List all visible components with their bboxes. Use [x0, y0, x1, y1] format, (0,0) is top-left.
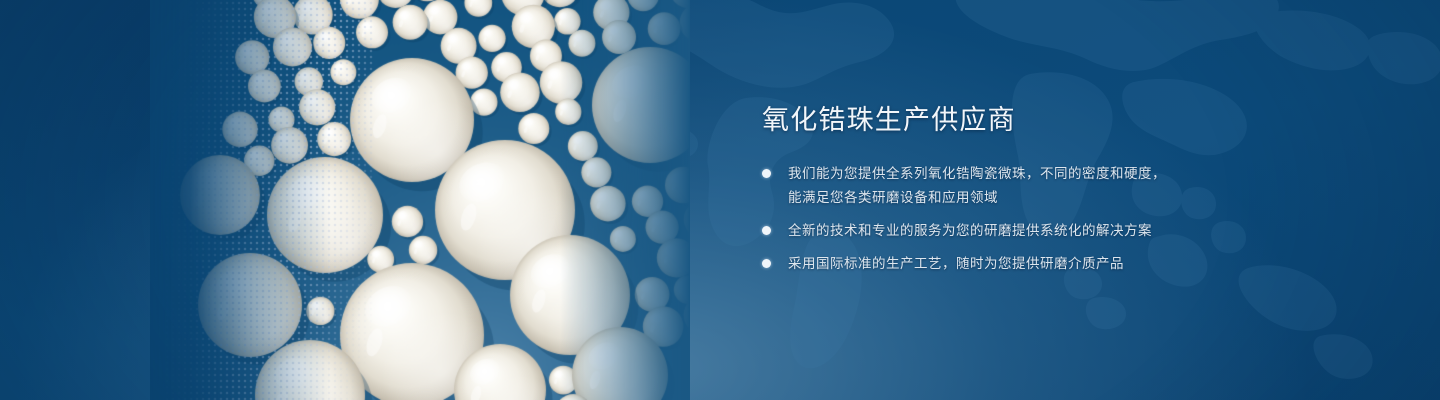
list-item-line: 能满足您各类研磨设备和应用领域	[788, 186, 1166, 210]
hero-banner: 氧化锆珠生产供应商 我们能为您提供全系列氧化锆陶瓷微珠，不同的密度和硬度， 能满…	[0, 0, 1440, 400]
list-item-text: 全新的技术和专业的服务为您的研磨提供系统化的解决方案	[788, 219, 1152, 243]
list-item-line: 采用国际标准的生产工艺，随时为您提供研磨介质产品	[788, 256, 1124, 272]
list-item-line: 全新的技术和专业的服务为您的研磨提供系统化的解决方案	[788, 223, 1152, 239]
feature-list: 我们能为您提供全系列氧化锆陶瓷微珠，不同的密度和硬度， 能满足您各类研磨设备和应…	[762, 162, 1232, 276]
list-item: 全新的技术和专业的服务为您的研磨提供系统化的解决方案	[762, 219, 1232, 243]
dot-bullet-icon	[762, 169, 771, 178]
list-item-text: 我们能为您提供全系列氧化锆陶瓷微珠，不同的密度和硬度， 能满足您各类研磨设备和应…	[788, 162, 1166, 210]
list-item: 我们能为您提供全系列氧化锆陶瓷微珠，不同的密度和硬度， 能满足您各类研磨设备和应…	[762, 162, 1232, 210]
list-item-text: 采用国际标准的生产工艺，随时为您提供研磨介质产品	[788, 252, 1124, 276]
dot-bullet-icon	[762, 226, 771, 235]
dot-bullet-icon	[762, 259, 771, 268]
page-title: 氧化锆珠生产供应商	[762, 104, 1232, 138]
hero-copy: 氧化锆珠生产供应商 我们能为您提供全系列氧化锆陶瓷微珠，不同的密度和硬度， 能满…	[762, 104, 1232, 285]
list-item: 采用国际标准的生产工艺，随时为您提供研磨介质产品	[762, 252, 1232, 276]
list-item-line: 我们能为您提供全系列氧化锆陶瓷微珠，不同的密度和硬度，	[788, 166, 1166, 182]
